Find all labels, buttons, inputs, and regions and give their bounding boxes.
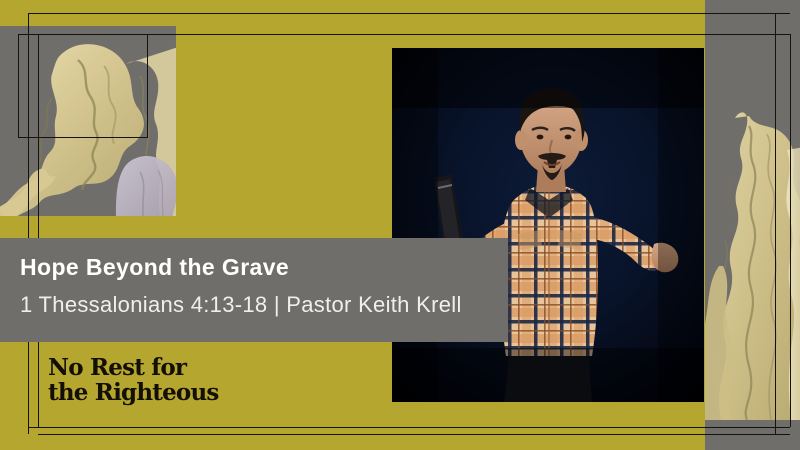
drapery-artwork-right — [705, 90, 800, 420]
right-decorative-panel — [705, 0, 800, 450]
sermon-video-frame[interactable] — [392, 48, 704, 402]
speaker-photo — [392, 48, 704, 402]
left-decorative-panel — [0, 26, 176, 216]
sermon-title: Hope Beyond the Grave — [20, 254, 289, 281]
frame-line-right-inner — [790, 34, 791, 427]
frame-line-left-outer — [28, 13, 29, 434]
sermon-title-slide: Hope Beyond the Grave 1 Thessalonians 4:… — [0, 0, 800, 450]
sermon-subtitle: 1 Thessalonians 4:13-18 | Pastor Keith K… — [20, 292, 462, 318]
drapery-artwork-left — [0, 26, 176, 216]
frame-line-art-right — [147, 34, 148, 137]
frame-line-bottom-inner — [38, 434, 790, 435]
frame-line-top-outer — [28, 13, 790, 14]
frame-line-art-left — [18, 34, 19, 137]
title-band: Hope Beyond the Grave 1 Thessalonians 4:… — [0, 238, 508, 342]
frame-line-art-bottom — [18, 137, 148, 138]
series-logo: No Rest for the Righteous — [48, 355, 248, 417]
frame-line-right-outer — [775, 13, 776, 434]
series-logo-line-2: the Righteous — [48, 380, 248, 406]
frame-line-bottom-outer — [28, 427, 790, 428]
series-logo-line-1: No Rest for — [48, 355, 248, 380]
frame-line-art-top — [18, 34, 148, 35]
frame-line-left-inner — [38, 34, 39, 427]
